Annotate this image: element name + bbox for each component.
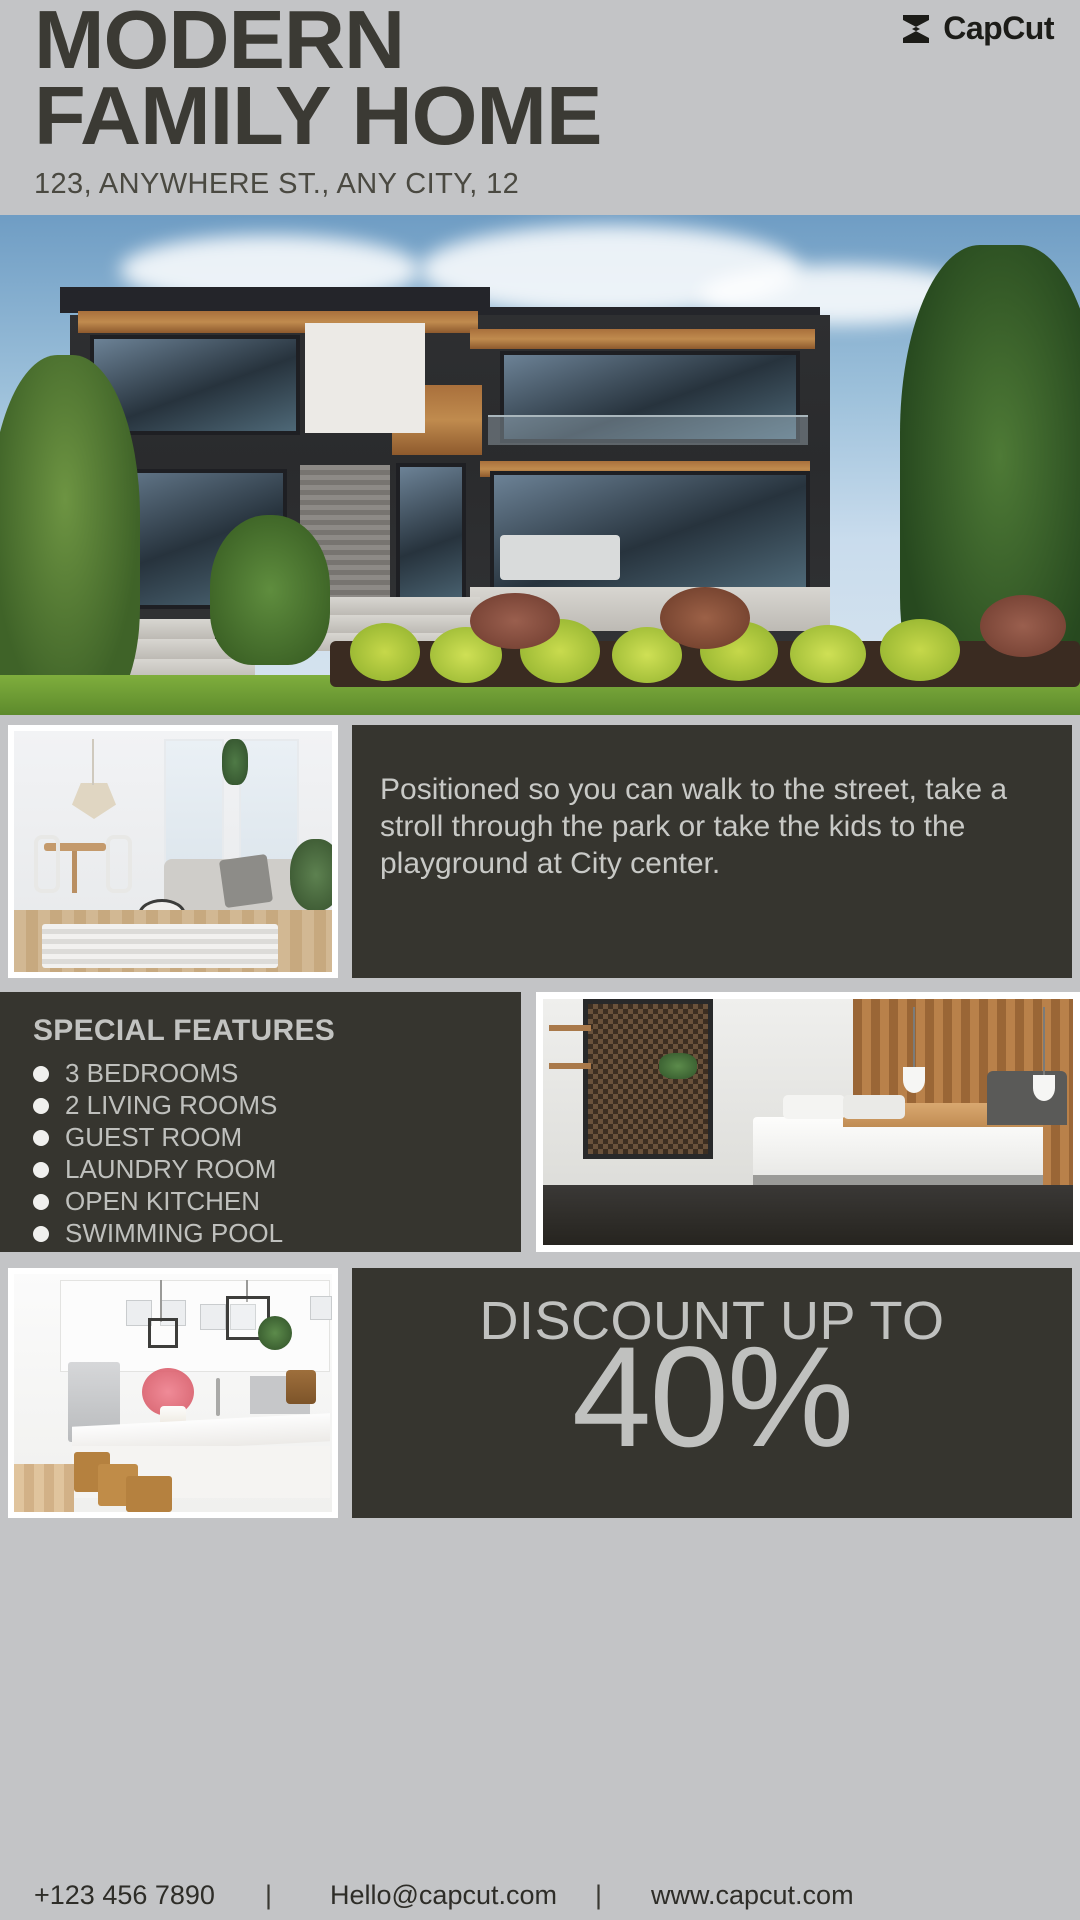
shrub (790, 625, 866, 683)
shrub (350, 623, 420, 681)
bullet-icon (33, 1226, 49, 1242)
wall-shelf (549, 1025, 591, 1031)
feature-label: 2 LIVING ROOMS (65, 1090, 277, 1121)
shrub (880, 619, 960, 681)
throw-blanket (219, 854, 273, 908)
contact-phone[interactable]: +123 456 7890 (34, 1880, 215, 1911)
plant (659, 1053, 697, 1079)
pillow (843, 1095, 905, 1119)
list-item: LAUNDRY ROOM (33, 1154, 283, 1185)
feature-label: GUEST ROOM (65, 1122, 242, 1153)
feature-label: 3 BEDROOMS (65, 1058, 238, 1089)
contact-email[interactable]: Hello@capcut.com (330, 1880, 557, 1911)
red-shrub (470, 593, 560, 649)
list-item: GUEST ROOM (33, 1122, 283, 1153)
pendant-cord (913, 1007, 915, 1069)
special-features-panel: SPECIAL FEATURES 3 BEDROOMS 2 LIVING ROO… (0, 992, 521, 1252)
bullet-icon (33, 1194, 49, 1210)
table-leg (72, 851, 77, 893)
kitchen-photo-card (8, 1268, 338, 1518)
hanging-plant (222, 739, 248, 785)
roof-left (60, 287, 490, 313)
bedroom-photo (543, 999, 1073, 1245)
title-line-2: FAMILY HOME (34, 78, 601, 154)
contact-website[interactable]: www.capcut.com (651, 1880, 854, 1911)
kitchen-photo (14, 1274, 332, 1512)
cutting-board (286, 1370, 316, 1404)
living-room-photo-card (8, 725, 338, 978)
footer-separator: | (595, 1880, 602, 1911)
list-item: OPEN KITCHEN (33, 1186, 283, 1217)
mesh-partition (583, 999, 713, 1159)
capcut-hourglass-icon (898, 11, 934, 47)
wooden-stool (126, 1476, 172, 1512)
pendant-light (903, 1067, 925, 1093)
discount-amount: 40% (352, 1326, 1072, 1469)
tree-left (0, 355, 140, 715)
hero-house-photo (0, 215, 1080, 715)
conifer-shrub (210, 515, 330, 665)
polished-floor (543, 1185, 1073, 1245)
dining-chair (106, 835, 132, 893)
page-title: MODERN FAMILY HOME (34, 2, 590, 154)
lantern-pendant (148, 1318, 178, 1348)
headboard (987, 1071, 1067, 1125)
pendant-cord (160, 1280, 162, 1322)
pendant-cord (1043, 1007, 1045, 1077)
feature-label: OPEN KITCHEN (65, 1186, 260, 1217)
lamp-cord (92, 739, 94, 785)
area-rug (42, 924, 278, 968)
pillow (783, 1095, 845, 1119)
glass-cabinet-door (200, 1304, 226, 1330)
dining-chair (34, 835, 60, 893)
white-wall-panel (305, 323, 425, 433)
list-item: 3 BEDROOMS (33, 1058, 283, 1089)
wood-floor (14, 1464, 74, 1512)
feature-label: LAUNDRY ROOM (65, 1154, 276, 1185)
bedroom-photo-card (536, 992, 1080, 1252)
pendant-light (1033, 1075, 1055, 1101)
bullet-icon (33, 1162, 49, 1178)
description-panel: Positioned so you can walk to the street… (352, 725, 1072, 978)
capcut-logo: CapCut (898, 10, 1054, 47)
property-address: 123, ANYWHERE ST., ANY CITY, 12 (34, 168, 519, 201)
title-line-1: MODERN (34, 2, 601, 78)
capcut-wordmark: CapCut (943, 10, 1054, 47)
bullet-icon (33, 1098, 49, 1114)
red-shrub (980, 595, 1066, 657)
living-room-photo (14, 731, 332, 972)
page-header: MODERN FAMILY HOME 123, ANYWHERE ST., AN… (0, 0, 1080, 215)
feature-label: SWIMMING POOL (65, 1218, 283, 1249)
description-text: Positioned so you can walk to the street… (380, 771, 1040, 882)
balcony-glass-rail (488, 415, 808, 445)
discount-panel: DISCOUNT UP TO 40% (352, 1268, 1072, 1518)
bullet-icon (33, 1130, 49, 1146)
list-item: 2 LIVING ROOMS (33, 1090, 283, 1121)
features-heading: SPECIAL FEATURES (33, 1014, 335, 1048)
entry-door (396, 463, 466, 613)
page-footer: +123 456 7890 | Hello@capcut.com | www.c… (0, 1870, 1080, 1920)
faucet (216, 1378, 220, 1416)
red-shrub (660, 587, 750, 649)
wall-shelf (549, 1063, 591, 1069)
features-list: 3 BEDROOMS 2 LIVING ROOMS GUEST ROOM LAU… (33, 1058, 283, 1250)
glass-cabinet-door (310, 1296, 332, 1320)
wreath (258, 1316, 292, 1350)
patio-sofa (500, 535, 620, 580)
wood-soffit-upper-right (470, 329, 815, 349)
bullet-icon (33, 1066, 49, 1082)
potted-plant (290, 839, 332, 911)
footer-separator: | (265, 1880, 272, 1911)
list-item: SWIMMING POOL (33, 1218, 283, 1249)
